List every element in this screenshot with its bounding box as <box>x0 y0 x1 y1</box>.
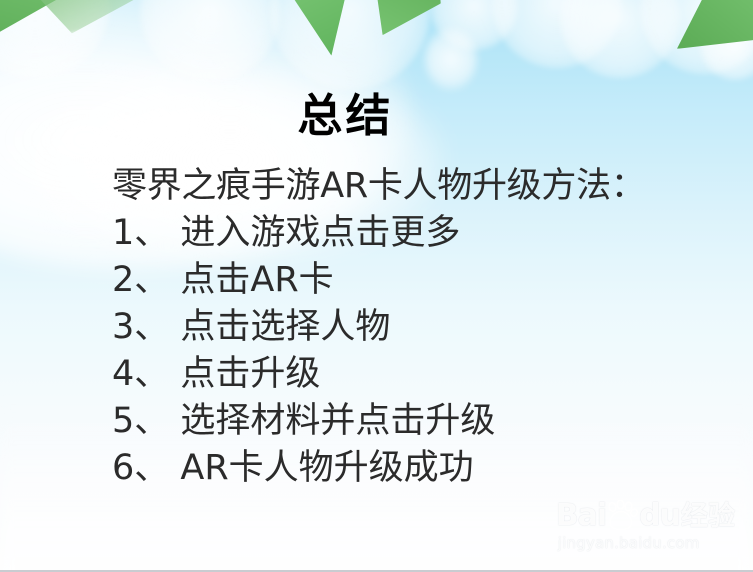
summary-text-block: 零界之痕手游AR卡人物升级方法： 1、 进入游戏点击更多 2、 点击AR卡 3、… <box>112 163 712 492</box>
page-title: 总结 <box>0 93 753 138</box>
presentation-slide: 总结 零界之痕手游AR卡人物升级方法： 1、 进入游戏点击更多 2、 点击AR卡… <box>0 0 753 572</box>
summary-step-3: 3、 点击选择人物 <box>112 304 712 351</box>
summary-step-4: 4、 点击升级 <box>112 351 712 398</box>
summary-intro-line: 零界之痕手游AR卡人物升级方法： <box>112 163 712 210</box>
summary-step-1: 1、 进入游戏点击更多 <box>112 210 712 257</box>
summary-step-2: 2、 点击AR卡 <box>112 257 712 304</box>
slide-content: 总结 零界之痕手游AR卡人物升级方法： 1、 进入游戏点击更多 2、 点击AR卡… <box>0 0 753 570</box>
summary-step-5: 5、 选择材料并点击升级 <box>112 398 712 445</box>
summary-step-6: 6、 AR卡人物升级成功 <box>112 445 712 492</box>
